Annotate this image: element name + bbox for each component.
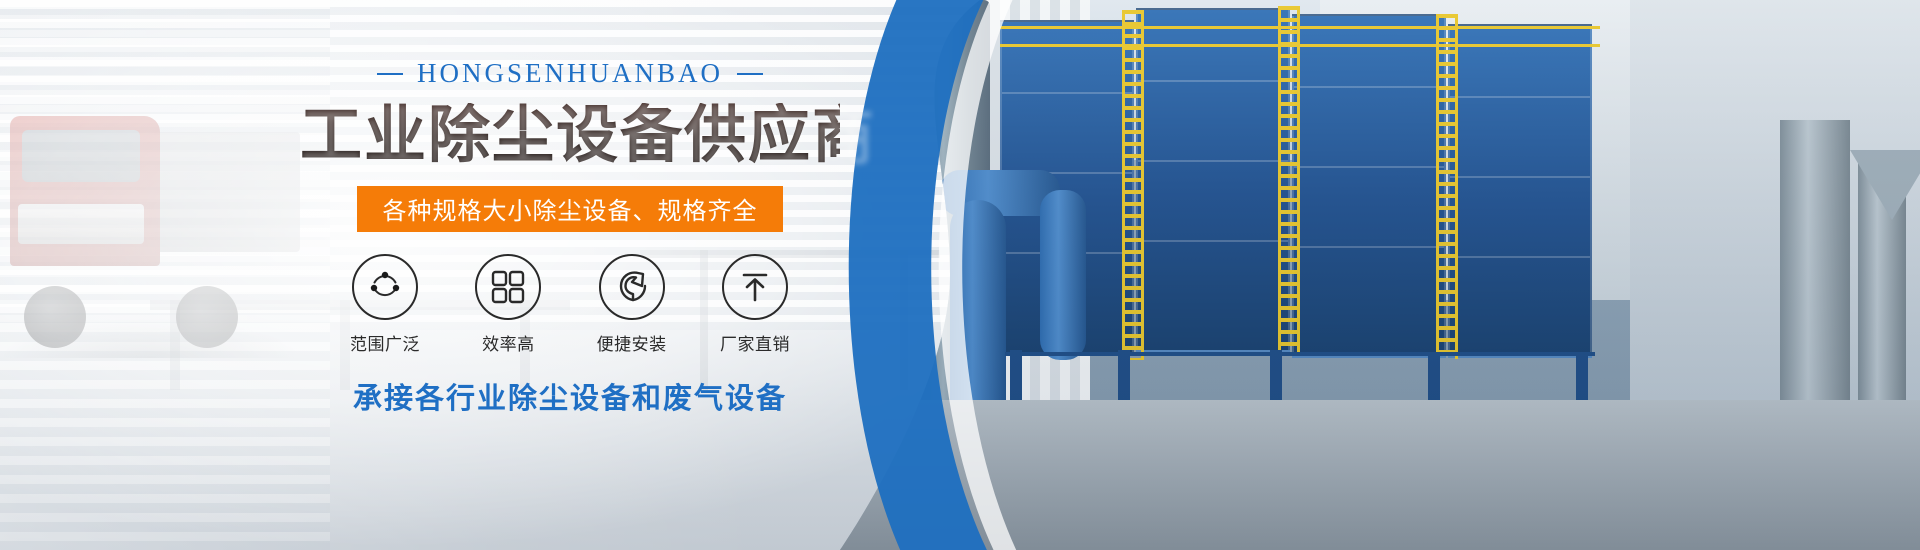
banner-content: HONGSENHUANBAO 工业除尘设备供应商 各种规格大小除尘设备、规格齐全 [300,58,840,417]
hero-banner: HONGSENHUANBAO 工业除尘设备供应商 各种规格大小除尘设备、规格齐全 [0,0,1920,550]
industrial-dust-collector-photo [800,0,1920,550]
feature-item-installation[interactable]: 便捷安装 [582,254,682,355]
feature-item-efficiency[interactable]: 效率高 [458,254,558,355]
feature-item-direct-sale[interactable]: 厂家直销 [705,254,805,355]
tagline: 承接各行业除尘设备和废气设备 [300,375,840,417]
arrow-up-bar-icon [722,254,788,320]
eyebrow-label: HONGSENHUANBAO [417,58,723,89]
photo-tone-overlay [800,0,1920,550]
eyebrow-text: HONGSENHUANBAO [300,58,840,89]
feature-label: 便捷安装 [582,330,682,355]
dash-left-icon [377,73,403,75]
share-nodes-icon [352,254,418,320]
subtitle-label: 各种规格大小除尘设备、规格齐全 [383,191,758,226]
page-title: 工业除尘设备供应商 [300,103,840,170]
dash-right-icon [737,73,763,75]
feature-label: 范围广泛 [335,330,435,355]
feature-label: 厂家直销 [705,330,805,355]
grid-four-squares-icon [475,254,541,320]
feature-label: 效率高 [458,330,558,355]
feature-item-range[interactable]: 范围广泛 [335,254,435,355]
subtitle-orange-bar: 各种规格大小除尘设备、规格齐全 [357,186,783,232]
wrench-tool-icon [599,254,665,320]
feature-list: 范围广泛 效率高 [335,254,805,355]
